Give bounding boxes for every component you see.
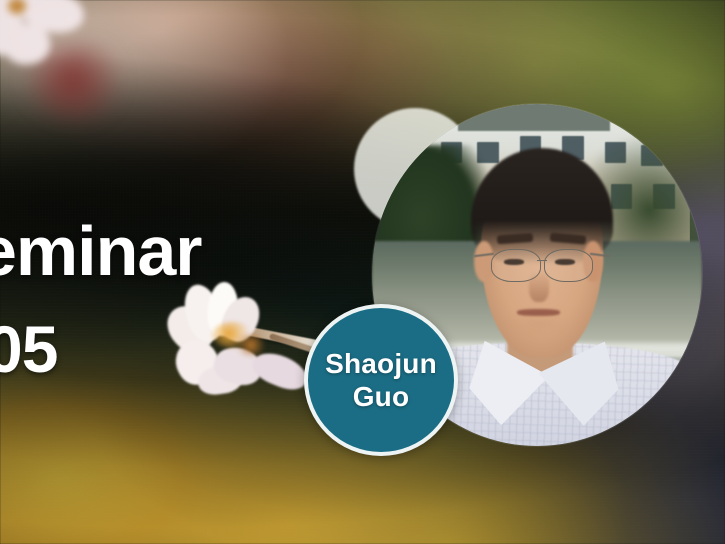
speaker-name-badge: Shaojun Guo [304,304,458,456]
poster-title-number: 05 [0,316,57,382]
poster-title-seminar: eminar [0,216,202,286]
speaker-last-name: Guo [353,380,410,413]
corner-blossom-icon [0,0,110,96]
speaker-first-name: Shaojun [325,347,437,380]
seminar-poster-banner: eminar 05 [0,0,725,544]
